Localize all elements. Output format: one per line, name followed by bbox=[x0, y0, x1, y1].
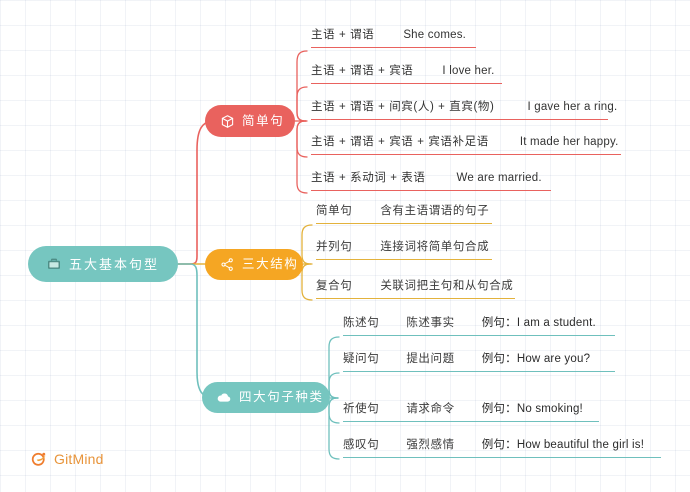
leaf-item[interactable]: 陈述句 陈述事实 例句：I am a student. bbox=[343, 314, 615, 336]
branch-node-3-label: 四大句子种类 bbox=[239, 391, 324, 404]
leaf-en-text: We are married. bbox=[457, 172, 542, 184]
leaf-item[interactable]: 主语 + 谓语 + 间宾(人) + 直宾(物) I gave her a rin… bbox=[311, 98, 608, 120]
branch-node-four-sentence-types[interactable]: 四大句子种类 bbox=[202, 382, 330, 413]
leaf-en-text: 例句：How beautiful the girl is! bbox=[482, 436, 644, 452]
leaf-desc-text: 连接词将简单句合成 bbox=[380, 238, 489, 254]
leaf-desc-text: 关联词把主句和从句合成 bbox=[380, 277, 513, 293]
leaf-cn-text: 主语 + 谓语 + 间宾(人) + 直宾(物) bbox=[311, 98, 494, 114]
leaf-item[interactable]: 疑问句 提出问题 例句：How are you? bbox=[343, 350, 615, 372]
leaf-en-text: 例句：No smoking! bbox=[482, 400, 583, 416]
gitmind-logo-icon bbox=[30, 450, 48, 468]
leaf-cn-text: 主语 + 系动词 + 表语 bbox=[311, 169, 426, 185]
share-nodes-icon bbox=[219, 257, 235, 273]
leaf-item[interactable]: 并列句 连接词将简单句合成 bbox=[316, 238, 492, 260]
leaf-item[interactable]: 主语 + 谓语 + 宾语 I love her. bbox=[311, 62, 502, 84]
root-node[interactable]: 五大基本句型 bbox=[28, 246, 178, 282]
leaf-en-text: 例句：I am a student. bbox=[482, 314, 596, 330]
leaf-cn-text: 复合句 bbox=[316, 277, 352, 293]
cube-icon bbox=[219, 113, 235, 129]
watermark: GitMind bbox=[30, 450, 104, 468]
branch-node-three-structures[interactable]: 三大结构 bbox=[205, 249, 303, 280]
leaf-desc-text: 陈述事实 bbox=[406, 314, 454, 330]
leaf-item[interactable]: 主语 + 谓语 + 宾语 + 宾语补足语 It made her happy. bbox=[311, 133, 621, 155]
leaf-item[interactable]: 感叹句 强烈感情 例句：How beautiful the girl is! bbox=[343, 436, 661, 458]
leaf-desc-text: 强烈感情 bbox=[406, 436, 454, 452]
leaf-cn-text: 疑问句 bbox=[343, 350, 379, 366]
leaf-en-text: I gave her a ring. bbox=[527, 101, 617, 113]
leaf-desc-text: 请求命令 bbox=[406, 400, 454, 416]
leaf-cn-text: 简单句 bbox=[316, 202, 352, 218]
branch-node-1-label: 简单句 bbox=[242, 115, 284, 128]
leaf-en-text: She comes. bbox=[403, 29, 466, 41]
leaf-item[interactable]: 祈使句 请求命令 例句：No smoking! bbox=[343, 400, 599, 422]
leaf-cn-text: 主语 + 谓语 bbox=[311, 26, 374, 42]
leaf-cn-text: 并列句 bbox=[316, 238, 352, 254]
branch-node-simple-sentence[interactable]: 简单句 bbox=[205, 105, 295, 137]
leaf-cn-text: 陈述句 bbox=[343, 314, 379, 330]
leaf-desc-text: 含有主语谓语的句子 bbox=[380, 202, 489, 218]
leaf-cn-text: 祈使句 bbox=[343, 400, 379, 416]
cloud-icon bbox=[216, 390, 232, 406]
mindmap-canvas[interactable]: 五大基本句型 简单句 三大结构 bbox=[0, 0, 690, 492]
watermark-label: GitMind bbox=[54, 451, 104, 467]
leaf-desc-text: 提出问题 bbox=[406, 350, 454, 366]
leaf-en-text: I love her. bbox=[442, 65, 494, 77]
leaf-item[interactable]: 简单句 含有主语谓语的句子 bbox=[316, 202, 492, 224]
leaf-item[interactable]: 复合句 关联词把主句和从句合成 bbox=[316, 277, 515, 299]
leaf-cn-text: 主语 + 谓语 + 宾语 + 宾语补足语 bbox=[311, 133, 489, 149]
branch-node-2-label: 三大结构 bbox=[242, 258, 298, 271]
leaf-item[interactable]: 主语 + 谓语 She comes. bbox=[311, 26, 476, 48]
briefcase-icon bbox=[46, 256, 62, 272]
leaf-en-text: It made her happy. bbox=[520, 136, 619, 148]
leaf-cn-text: 主语 + 谓语 + 宾语 bbox=[311, 62, 413, 78]
leaf-item[interactable]: 主语 + 系动词 + 表语 We are married. bbox=[311, 169, 551, 191]
leaf-cn-text: 感叹句 bbox=[343, 436, 379, 452]
leaf-en-text: 例句：How are you? bbox=[482, 350, 590, 366]
root-node-label: 五大基本句型 bbox=[69, 258, 159, 271]
